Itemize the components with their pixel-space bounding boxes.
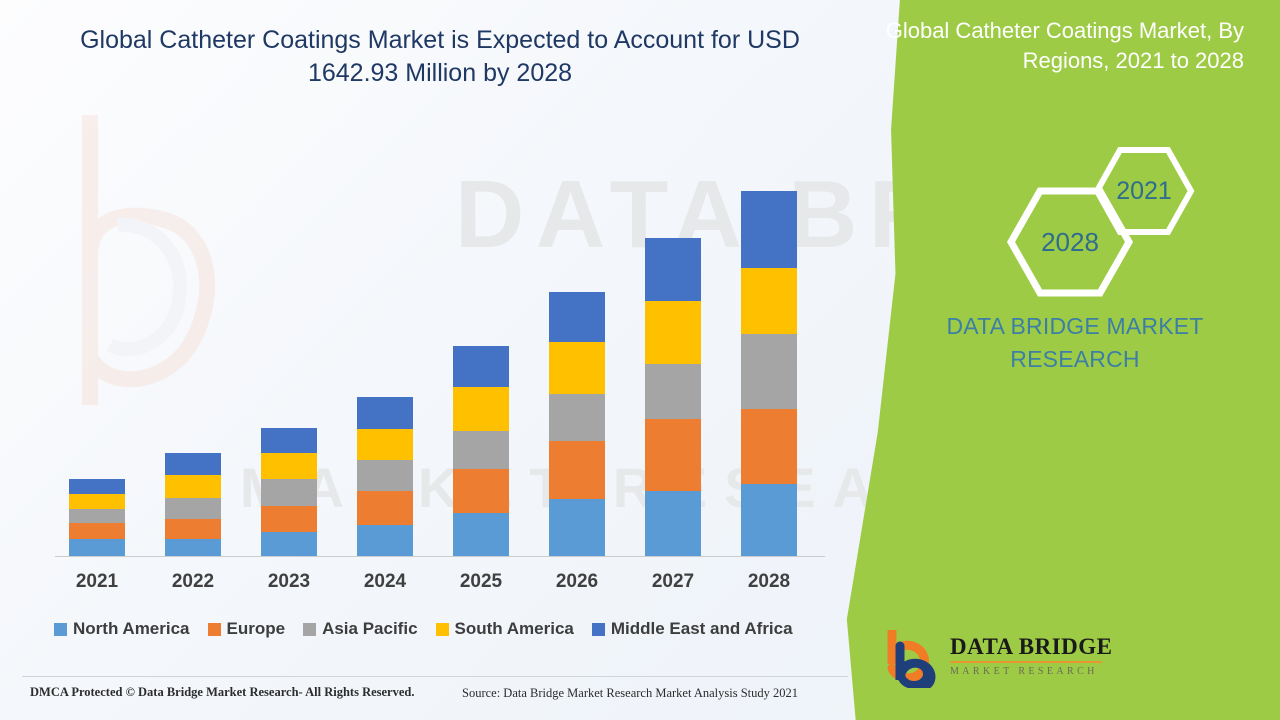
logo-main-text: DATA BRIDGE (950, 634, 1110, 660)
bar-segment (69, 479, 125, 494)
bar-segment (453, 431, 509, 469)
footer-source: Source: Data Bridge Market Research Mark… (462, 686, 798, 701)
legend-label: Asia Pacific (322, 619, 417, 639)
bar-segment (261, 532, 317, 556)
x-axis-label-2023: 2023 (244, 571, 334, 593)
bar-segment (741, 409, 797, 484)
bar-segment (645, 238, 701, 301)
bar-segment (165, 539, 221, 556)
logo-text-block: DATA BRIDGE MARKET RESEARCH (950, 634, 1110, 677)
bar-segment (741, 484, 797, 556)
legend-label: Europe (227, 619, 286, 639)
chart-panel: DATA BRIDGE MARKET RESEARCH Global Cathe… (0, 0, 950, 720)
green-panel-title: Global Catheter Coatings Market, By Regi… (864, 16, 1244, 77)
footer-divider (22, 676, 848, 677)
x-axis-label-2028: 2028 (724, 571, 814, 593)
x-axis-label-2022: 2022 (148, 571, 238, 593)
legend-item[interactable]: Middle East and Africa (592, 619, 793, 639)
legend-swatch-icon (208, 623, 221, 636)
data-bridge-logo: DATA BRIDGE MARKET RESEARCH (880, 630, 1110, 692)
footer-copyright: DMCA Protected © Data Bridge Market Rese… (30, 685, 415, 700)
bar-segment (549, 342, 605, 394)
legend-label: Middle East and Africa (611, 619, 793, 639)
bar-column-2028 (741, 191, 797, 556)
bar-column-2025 (453, 346, 509, 556)
chart-plot-area (55, 130, 825, 556)
data-bridge-logo-mark-icon (880, 630, 944, 688)
bar-segment (549, 292, 605, 342)
bar-column-2027 (645, 238, 701, 556)
bar-segment (453, 387, 509, 431)
x-axis-label-2024: 2024 (340, 571, 430, 593)
bar-segment (549, 441, 605, 499)
bar-segment (453, 469, 509, 513)
bar-column-2023 (261, 428, 317, 556)
bar-segment (453, 513, 509, 556)
legend-label: South America (455, 619, 574, 639)
legend-swatch-icon (592, 623, 605, 636)
bar-segment (549, 394, 605, 441)
bar-segment (357, 397, 413, 429)
bar-segment (261, 453, 317, 479)
bar-segment (69, 509, 125, 523)
legend-item[interactable]: South America (436, 619, 574, 639)
bar-segment (645, 419, 701, 491)
bar-segment (645, 301, 701, 364)
bar-segment (549, 499, 605, 556)
bar-segment (69, 523, 125, 539)
x-axis-label-2021: 2021 (52, 571, 142, 593)
legend-swatch-icon (436, 623, 449, 636)
bar-segment (165, 498, 221, 519)
green-side-panel: Global Catheter Coatings Market, By Regi… (838, 0, 1280, 720)
bar-segment (357, 429, 413, 460)
bar-column-2021 (69, 479, 125, 556)
bar-segment (261, 428, 317, 453)
bar-segment (645, 491, 701, 556)
bar-column-2022 (165, 453, 221, 556)
bar-segment (165, 475, 221, 498)
bar-segment (357, 460, 413, 491)
hexagon-end-year-label: 2028 (1041, 227, 1099, 258)
bar-column-2024 (357, 397, 413, 556)
brand-name: DATA BRIDGE MARKET RESEARCH (838, 310, 1280, 375)
bar-segment (741, 191, 797, 268)
x-axis-label-2026: 2026 (532, 571, 622, 593)
bar-segment (261, 506, 317, 532)
legend-item[interactable]: Asia Pacific (303, 619, 417, 639)
bar-segment (741, 334, 797, 409)
bar-segment (165, 519, 221, 539)
bar-segment (69, 494, 125, 509)
legend-swatch-icon (54, 623, 67, 636)
hexagon-end-year: 2028 (1006, 186, 1134, 298)
bar-segment (69, 539, 125, 556)
bar-segment (645, 364, 701, 419)
x-axis-label-2027: 2027 (628, 571, 718, 593)
bar-segment (741, 268, 797, 334)
bar-segment (357, 491, 413, 525)
bar-segment (261, 479, 317, 506)
x-axis-tick-labels: 20212022202320242025202620272028 (55, 566, 825, 598)
legend-swatch-icon (303, 623, 316, 636)
chart-title: Global Catheter Coatings Market is Expec… (60, 24, 820, 90)
x-axis-line (55, 556, 825, 557)
logo-sub-text: MARKET RESEARCH (950, 666, 1110, 677)
x-axis-label-2025: 2025 (436, 571, 526, 593)
legend-item[interactable]: North America (54, 619, 190, 639)
bar-column-2026 (549, 292, 605, 556)
bar-segment (165, 453, 221, 475)
bar-segment (357, 525, 413, 556)
legend-item[interactable]: Europe (208, 619, 286, 639)
logo-underline (950, 661, 1102, 663)
bar-segment (453, 346, 509, 387)
chart-legend: North AmericaEuropeAsia PacificSouth Ame… (54, 616, 844, 642)
legend-label: North America (73, 619, 190, 639)
